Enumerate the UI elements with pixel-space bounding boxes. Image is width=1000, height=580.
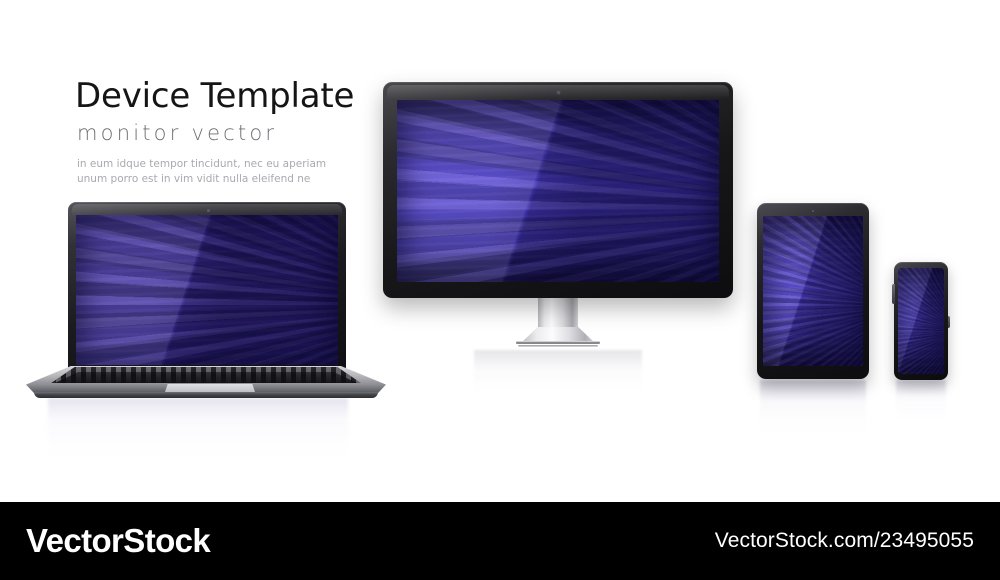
laptop-screen[interactable] — [76, 215, 338, 365]
page-subtitle: monitor vector — [77, 120, 395, 146]
body-copy-line-1: in eum idque tempor tincidunt, nec eu ap… — [77, 157, 395, 172]
monitor-stand-base-edge — [518, 345, 598, 347]
monitor-wallpaper — [397, 100, 719, 282]
page-title: Device Template — [75, 76, 395, 116]
device-monitor[interactable] — [383, 82, 733, 298]
device-smartphone[interactable] — [894, 262, 948, 380]
phone-screen[interactable] — [898, 268, 944, 374]
footer-bar: VectorStock VectorStock.com/23495055 — [0, 502, 1000, 580]
monitor-camera-icon — [557, 91, 560, 94]
device-tablet[interactable] — [757, 203, 869, 379]
canvas: Device Template monitor vector in eum id… — [0, 0, 1000, 580]
laptop-reflection — [48, 398, 348, 470]
heading-block: Device Template monitor vector in eum id… — [75, 76, 395, 187]
monitor-stand-flare — [522, 327, 594, 342]
laptop-camera-icon — [207, 209, 210, 212]
footer-url: VectorStock.com/23495055 — [715, 529, 974, 553]
tablet-wallpaper — [763, 216, 863, 366]
tablet-reflection — [760, 380, 866, 432]
phone-reflection — [896, 380, 946, 420]
phone-volume-button[interactable] — [892, 284, 895, 304]
monitor-stand-base — [516, 341, 600, 344]
laptop-wallpaper — [76, 215, 338, 365]
footer-brand: VectorStock — [26, 522, 210, 560]
laptop-front-lip — [34, 392, 378, 398]
body-copy: in eum idque tempor tincidunt, nec eu ap… — [77, 157, 395, 187]
monitor-reflection — [474, 350, 642, 396]
laptop-keyboard-shadow — [26, 372, 386, 383]
monitor-screen[interactable] — [397, 100, 719, 282]
phone-wallpaper — [898, 268, 944, 374]
monitor-stand — [514, 296, 602, 348]
device-laptop[interactable] — [26, 202, 386, 400]
tablet-screen[interactable] — [763, 216, 863, 366]
phone-power-button[interactable] — [948, 316, 951, 328]
body-copy-line-2: unum porro est in vim vidit nulla eleife… — [77, 172, 395, 187]
